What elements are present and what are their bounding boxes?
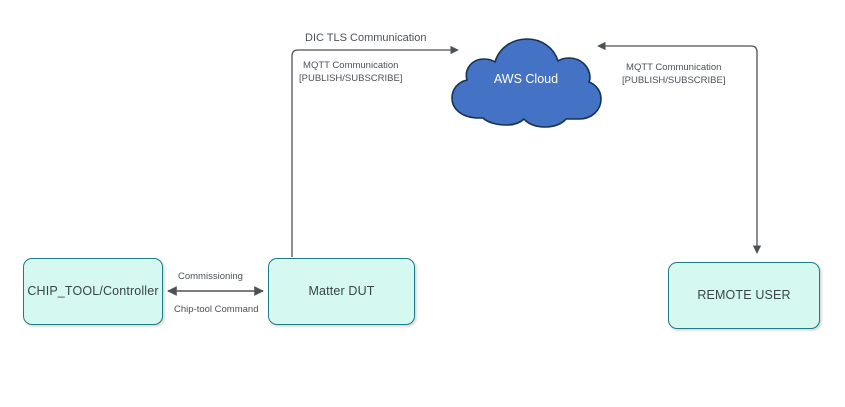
edge-label-dic-tls-text: DIC TLS Communication	[305, 32, 426, 44]
node-remote-user-label: REMOTE USER	[697, 288, 790, 304]
node-chip-tool-label: CHIP_TOOL/Controller	[27, 284, 158, 300]
edge-label-chip-tool-command: Chip-tool Command	[174, 304, 258, 317]
edge-label-mqtt-left-line2: [PUBLISH/SUBSCRIBE]	[299, 73, 402, 86]
cloud-icon	[448, 30, 604, 128]
edge-label-mqtt-right-line2: [PUBLISH/SUBSCRIBE]	[622, 75, 725, 88]
node-remote-user[interactable]: REMOTE USER	[668, 262, 820, 329]
edge-label-mqtt-right-line1: MQTT Communication	[622, 62, 725, 75]
edge-label-mqtt-left: MQTT Communication [PUBLISH/SUBSCRIBE]	[299, 60, 402, 86]
aws-cloud-node[interactable]	[448, 30, 604, 128]
node-matter-dut[interactable]: Matter DUT	[268, 258, 415, 325]
node-chip-tool[interactable]: CHIP_TOOL/Controller	[23, 258, 163, 325]
node-matter-dut-label: Matter DUT	[308, 284, 374, 300]
edge-label-chip-tool-command-text: Chip-tool Command	[174, 304, 258, 315]
edge-label-mqtt-left-line1: MQTT Communication	[299, 60, 402, 73]
edge-label-commissioning: Commissioning	[178, 271, 243, 284]
diagram-canvas: AWS Cloud CHIP_TOOL/Controller Matter DU…	[0, 0, 845, 407]
edge-label-dic-tls: DIC TLS Communication	[305, 31, 426, 46]
edge-label-commissioning-text: Commissioning	[178, 271, 243, 282]
edge-label-mqtt-right: MQTT Communication [PUBLISH/SUBSCRIBE]	[622, 62, 725, 88]
